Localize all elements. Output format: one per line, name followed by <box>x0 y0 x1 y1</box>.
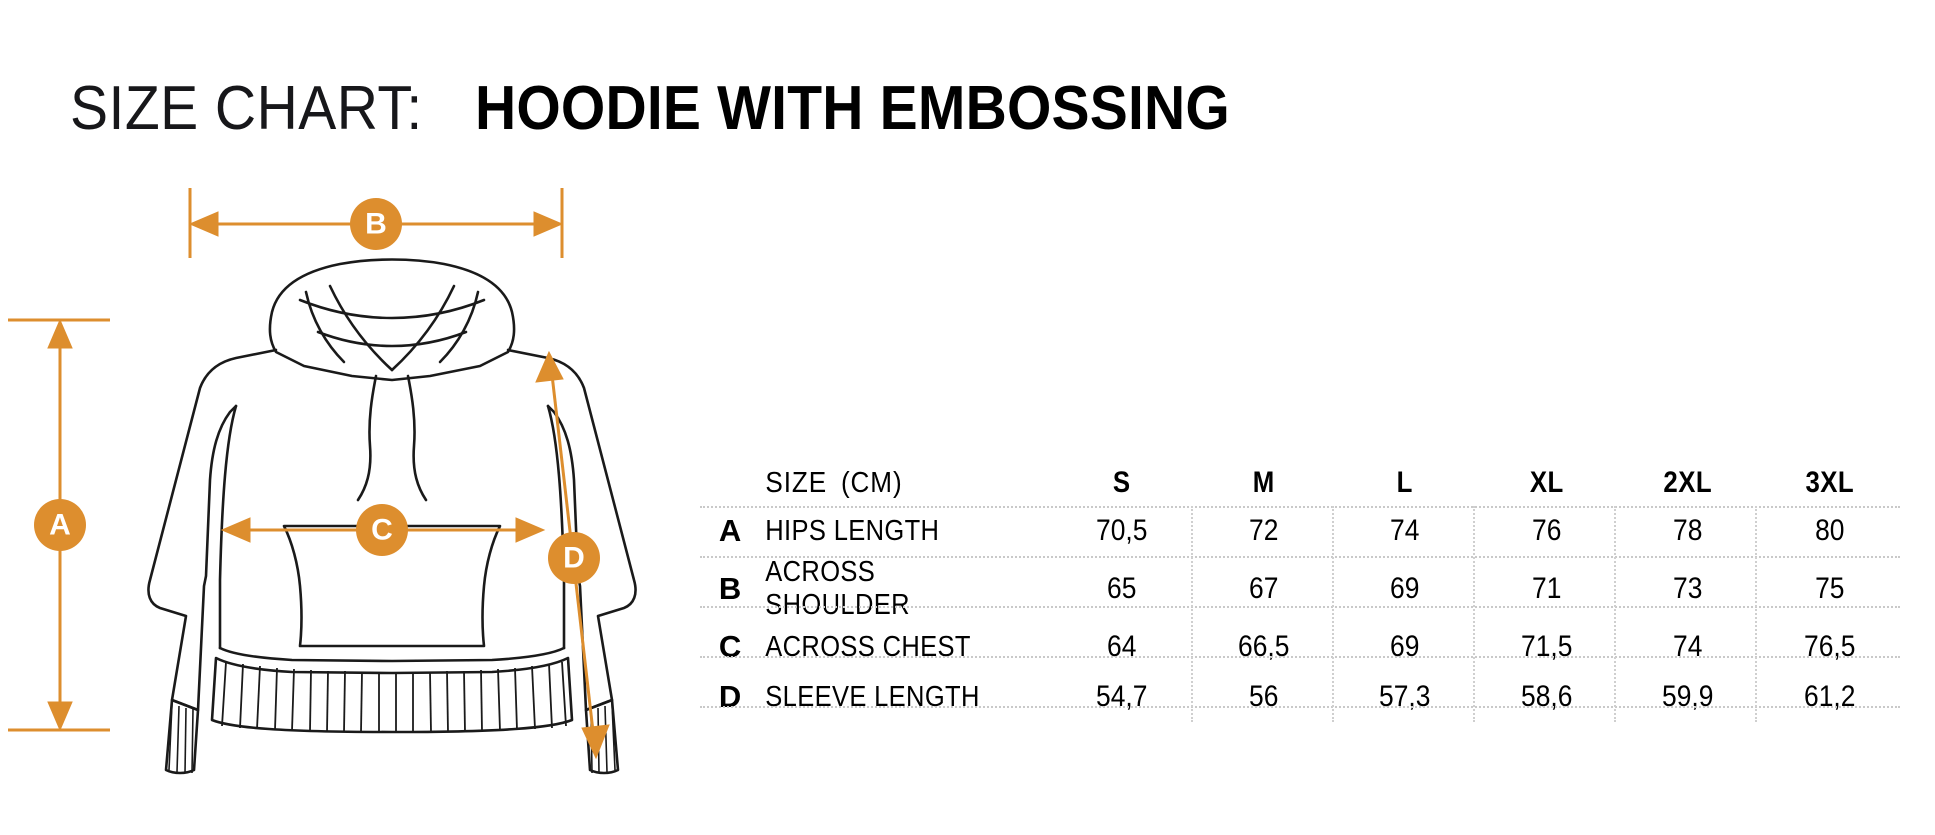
row-label-b: ACROSS SHOULDER <box>760 556 1016 622</box>
row-separator <box>700 606 1900 608</box>
row-separator <box>700 706 1900 708</box>
cell-d-l: 57,3 <box>1343 672 1467 722</box>
dim-b-arrow-left <box>190 212 218 236</box>
cell-b-xl: 71 <box>1484 556 1608 622</box>
header-size-xl: XL <box>1485 460 1607 506</box>
row-letter-b: B <box>700 556 760 622</box>
header-size-3xl: 3XL <box>1768 460 1890 506</box>
cell-d-m: 56 <box>1201 672 1325 722</box>
cell-d-s: 54,7 <box>1060 672 1184 722</box>
header-size-2xl: 2XL <box>1627 460 1749 506</box>
header-size-cm: SIZE (CM) <box>760 460 1022 506</box>
cell-a-xl: 76 <box>1484 506 1608 556</box>
cell-a-2xl: 78 <box>1626 506 1750 556</box>
cell-c-2xl: 74 <box>1626 622 1750 672</box>
torso-hem-top <box>220 648 564 661</box>
callout-label-c: C <box>371 514 393 547</box>
page-title: SIZE CHART:HOODIE WITH EMBOSSING <box>70 78 1296 140</box>
cell-c-l: 69 <box>1343 622 1467 672</box>
dim-b-arrow-right <box>534 212 562 236</box>
cell-b-m: 67 <box>1201 556 1325 622</box>
table-row: C ACROSS CHEST 64 66,5 69 71,5 74 76,5 <box>700 622 1900 672</box>
header-size-l: L <box>1344 460 1466 506</box>
title-product: HOODIE WITH EMBOSSING <box>475 78 1230 140</box>
row-separator <box>700 556 1900 558</box>
table-row: A HIPS LENGTH 70,5 72 74 76 78 80 <box>700 506 1900 556</box>
size-table: SIZE (CM) S M L XL 2XL 3XL A HIPS LENGTH… <box>700 460 1900 722</box>
cell-a-m: 72 <box>1201 506 1325 556</box>
row-letter-d: D <box>700 672 760 722</box>
cell-a-s: 70,5 <box>1060 506 1184 556</box>
cuff-rib-lines <box>169 704 615 773</box>
cell-d-xl: 58,6 <box>1484 672 1608 722</box>
title-prefix: SIZE CHART: <box>70 78 423 140</box>
table-header-row: SIZE (CM) S M L XL 2XL 3XL <box>700 460 1900 506</box>
row-label-c: ACROSS CHEST <box>760 622 1016 672</box>
drawstring-right <box>408 376 426 500</box>
row-label-d: SLEEVE LENGTH <box>760 672 1016 722</box>
cell-d-3xl: 61,2 <box>1767 672 1892 722</box>
cell-b-s: 65 <box>1060 556 1184 622</box>
row-letter-a: A <box>700 506 760 556</box>
cell-c-m: 66,5 <box>1201 622 1325 672</box>
dim-a-arrow-down <box>48 702 72 730</box>
cell-b-2xl: 73 <box>1626 556 1750 622</box>
table-row: B ACROSS SHOULDER 65 67 69 71 73 75 <box>700 556 1900 622</box>
callout-label-d: D <box>563 542 585 575</box>
table-body: A HIPS LENGTH 70,5 72 74 76 78 80 B ACRO… <box>700 506 1900 722</box>
callout-label-a: A <box>49 509 71 542</box>
cell-a-3xl: 80 <box>1767 506 1892 556</box>
cell-d-2xl: 59,9 <box>1626 672 1750 722</box>
cell-c-s: 64 <box>1060 622 1184 672</box>
dim-a-arrow-up <box>48 320 72 348</box>
dim-d-arrow-bottom <box>582 725 609 758</box>
cell-b-l: 69 <box>1343 556 1467 622</box>
row-label-a: HIPS LENGTH <box>760 506 1016 556</box>
dim-c-arrow-left <box>222 518 250 542</box>
row-separator <box>700 656 1900 658</box>
header-size-m: M <box>1203 460 1325 506</box>
row-letter-c: C <box>700 622 760 672</box>
cell-b-3xl: 75 <box>1767 556 1892 622</box>
table-head: SIZE (CM) S M L XL 2XL 3XL <box>700 460 1900 506</box>
size-chart-page: SIZE CHART:HOODIE WITH EMBOSSING <box>0 0 1935 835</box>
table-row: D SLEEVE LENGTH 54,7 56 57,3 58,6 59,9 6… <box>700 672 1900 722</box>
header-size-s: S <box>1061 460 1183 506</box>
drawstring-left <box>358 376 376 500</box>
hoodie-illustration: A B C <box>0 180 700 820</box>
cell-c-xl: 71,5 <box>1484 622 1608 672</box>
cell-c-3xl: 76,5 <box>1767 622 1892 672</box>
hem-rib-outline <box>212 658 572 732</box>
torso-right-side <box>548 406 564 648</box>
dim-c-arrow-right <box>516 518 544 542</box>
header-letter-col <box>704 460 756 506</box>
hood-inner-edge-2 <box>318 332 466 346</box>
measurements-table: SIZE (CM) S M L XL 2XL 3XL A HIPS LENGTH… <box>700 460 1900 722</box>
callout-label-b: B <box>365 208 387 241</box>
hood-outline <box>270 260 514 381</box>
cell-a-l: 74 <box>1343 506 1467 556</box>
row-separator <box>700 506 1900 508</box>
hood-inner-edge <box>300 300 484 318</box>
